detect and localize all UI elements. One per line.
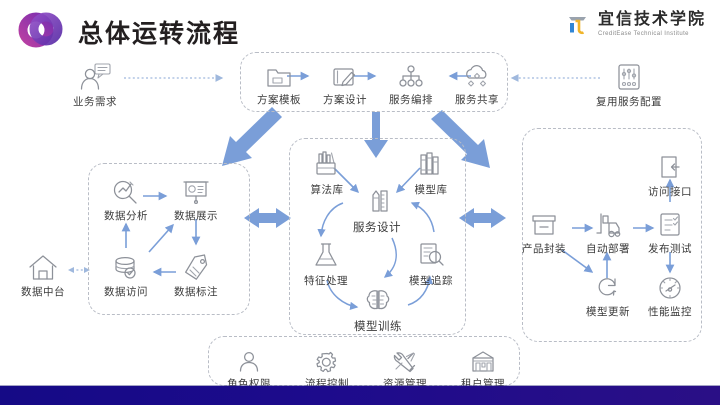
node-model-training[interactable]: 模型训练 xyxy=(345,282,411,334)
brain-icon xyxy=(345,282,411,316)
node-label: 模型更新 xyxy=(575,304,641,319)
node-tenant-management[interactable]: 租户管理 xyxy=(450,340,516,391)
folder-icon xyxy=(246,56,312,90)
brand-name-cn: 宜信技术学院 xyxy=(598,12,706,29)
node-scheme-design[interactable]: 方案设计 xyxy=(312,56,378,107)
node-data-access[interactable]: 数据访问 xyxy=(93,248,159,299)
pencil-ruler-icon xyxy=(344,183,410,217)
api-door-icon xyxy=(637,148,703,182)
node-service-orchestration[interactable]: 服务编排 xyxy=(378,56,444,107)
page-title: 总体运转流程 xyxy=(78,14,240,50)
node-scheme-template[interactable]: 方案模板 xyxy=(246,56,312,107)
node-release-test[interactable]: 发布测试 xyxy=(637,205,703,256)
flask-icon xyxy=(293,237,359,271)
house-icon xyxy=(10,248,76,282)
node-label: 数据分析 xyxy=(93,208,159,223)
node-data-midend[interactable]: 数据中台 xyxy=(10,248,76,299)
refresh-cycle-icon xyxy=(575,268,641,302)
node-label: 服务共享 xyxy=(444,92,510,107)
wrench-screwdriver-icon xyxy=(372,340,438,374)
node-label: 访问接口 xyxy=(637,184,703,199)
org-tree-icon xyxy=(378,56,444,90)
node-label: 模型训练 xyxy=(345,318,411,334)
node-label: 数据标注 xyxy=(163,284,229,299)
node-label: 自动部署 xyxy=(575,241,641,256)
gauge-icon xyxy=(637,268,703,302)
node-label: 方案设计 xyxy=(312,92,378,107)
node-label: 服务设计 xyxy=(344,219,410,235)
presentation-board-icon xyxy=(163,172,229,206)
tag-label-icon xyxy=(163,248,229,282)
gear-icon xyxy=(294,340,360,374)
footer-bar xyxy=(0,386,720,405)
cloud-share-icon xyxy=(444,56,510,90)
node-label: 性能监控 xyxy=(637,304,703,319)
book-shelf-icon xyxy=(294,146,360,180)
checklist-icon xyxy=(637,205,703,239)
person-speech-bubble-icon xyxy=(62,58,128,92)
sliders-panel-icon xyxy=(588,58,670,92)
node-label: 发布测试 xyxy=(637,241,703,256)
package-box-icon xyxy=(511,205,577,239)
node-resource-management[interactable]: 资源管理 xyxy=(372,340,438,391)
tc-monogram-icon xyxy=(566,12,591,37)
brand-lockup: 宜信技术学院 CreditEase Technical Institute xyxy=(566,12,706,37)
node-service-design[interactable]: 服务设计 xyxy=(344,183,410,235)
node-label: 服务编排 xyxy=(378,92,444,107)
database-check-icon xyxy=(93,248,159,282)
books-icon xyxy=(398,146,464,180)
node-model-update[interactable]: 模型更新 xyxy=(575,268,641,319)
node-data-analysis[interactable]: 数据分析 xyxy=(93,172,159,223)
node-product-packaging[interactable]: 产品封装 xyxy=(511,205,577,256)
node-label: 数据中台 xyxy=(10,284,76,299)
node-process-control[interactable]: 流程控制 xyxy=(294,340,360,391)
node-reuse-config[interactable]: 复用服务配置 xyxy=(588,58,670,109)
overlapping-circles-logo xyxy=(14,10,70,50)
node-label: 产品封装 xyxy=(511,241,577,256)
node-business-demand[interactable]: 业务需求 xyxy=(62,58,128,109)
drawing-tablet-pen-icon xyxy=(312,56,378,90)
node-role-permission[interactable]: 角色权限 xyxy=(216,340,282,391)
node-data-annotation[interactable]: 数据标注 xyxy=(163,248,229,299)
slide-canvas: 总体运转流程 宜信技术学院 CreditEase Technical Insti… xyxy=(0,0,720,405)
node-feature-processing[interactable]: 特征处理 xyxy=(293,237,359,288)
node-label: 数据展示 xyxy=(163,208,229,223)
node-access-interface[interactable]: 访问接口 xyxy=(637,148,703,199)
forklift-icon xyxy=(575,205,641,239)
document-magnifier-icon xyxy=(398,237,464,271)
node-label: 方案模板 xyxy=(246,92,312,107)
node-label: 数据访问 xyxy=(93,284,159,299)
brand-name-en: CreditEase Technical Institute xyxy=(598,31,706,37)
building-icon xyxy=(450,340,516,374)
node-label: 复用服务配置 xyxy=(588,94,670,109)
node-auto-deploy[interactable]: 自动部署 xyxy=(575,205,641,256)
user-icon xyxy=(216,340,282,374)
node-performance-monitor[interactable]: 性能监控 xyxy=(637,268,703,319)
node-label: 业务需求 xyxy=(62,94,128,109)
node-service-sharing[interactable]: 服务共享 xyxy=(444,56,510,107)
node-model-tracking[interactable]: 模型追踪 xyxy=(398,237,464,288)
magnifier-chart-icon xyxy=(93,172,159,206)
node-data-display[interactable]: 数据展示 xyxy=(163,172,229,223)
